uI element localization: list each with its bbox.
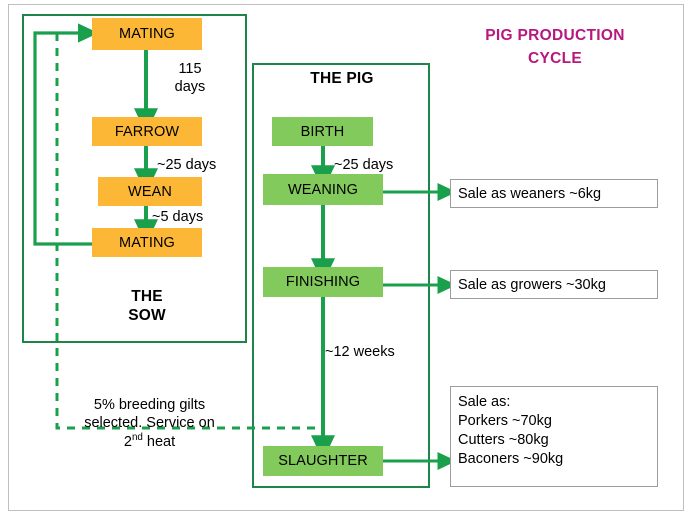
page-title: PIG PRODUCTION CYCLE [440, 24, 670, 71]
diagram-canvas: PIG PRODUCTION CYCLE THE SOW THE PIG MAT… [0, 0, 694, 517]
node-birth[interactable]: BIRTH [272, 117, 373, 146]
label-wean-to-mating: ~5 days [152, 208, 203, 226]
sale-final-line-3: Cutters ~80kg [458, 431, 657, 450]
page-title-line-1: PIG PRODUCTION [440, 24, 670, 47]
node-slaughter[interactable]: SLAUGHTER [263, 446, 383, 476]
label-farrow-to-wean: ~25 days [157, 156, 216, 174]
node-mating-bottom[interactable]: MATING [92, 228, 202, 257]
label-mating-to-farrow-line-2: days [160, 78, 220, 96]
sow-group-title-line-1: THE [92, 288, 202, 307]
sale-box-final[interactable]: Sale as: Porkers ~70kg Cutters ~80kg Bac… [450, 386, 658, 487]
node-wean[interactable]: WEAN [98, 177, 202, 206]
node-weaning[interactable]: WEANING [263, 174, 383, 205]
sale-final-line-2: Porkers ~70kg [458, 412, 657, 431]
pig-group-title: THE PIG [262, 70, 422, 89]
gilts-note-line-3: 2nd heat [62, 432, 237, 451]
label-mating-to-farrow-line-1: 115 [160, 60, 220, 78]
sale-final-line-4: Baconers ~90kg [458, 450, 657, 469]
label-finishing-to-slaughter: ~12 weeks [325, 343, 395, 361]
sale-box-weaners[interactable]: Sale as weaners ~6kg [450, 179, 658, 208]
sale-box-growers[interactable]: Sale as growers ~30kg [450, 270, 658, 299]
label-birth-to-weaning: ~25 days [334, 156, 393, 174]
sow-group-title: THE SOW [92, 288, 202, 326]
gilts-note-line-3-rest: heat [143, 434, 175, 450]
gilts-note-line-1: 5% breeding gilts [62, 396, 237, 414]
node-mating-top[interactable]: MATING [92, 18, 202, 50]
node-finishing[interactable]: FINISHING [263, 267, 383, 297]
page-title-line-2: CYCLE [440, 47, 670, 70]
sale-final-line-1: Sale as: [458, 393, 657, 412]
sow-group-title-line-2: SOW [92, 307, 202, 326]
gilts-note-line-3-ordinal: nd [132, 432, 143, 443]
node-farrow[interactable]: FARROW [92, 117, 202, 146]
gilts-note-line-2: selected. Service on [62, 414, 237, 432]
label-mating-to-farrow: 115 days [160, 60, 220, 96]
gilts-note-line-3-number: 2 [124, 434, 132, 450]
gilts-selection-note: 5% breeding gilts selected. Service on 2… [62, 396, 237, 451]
